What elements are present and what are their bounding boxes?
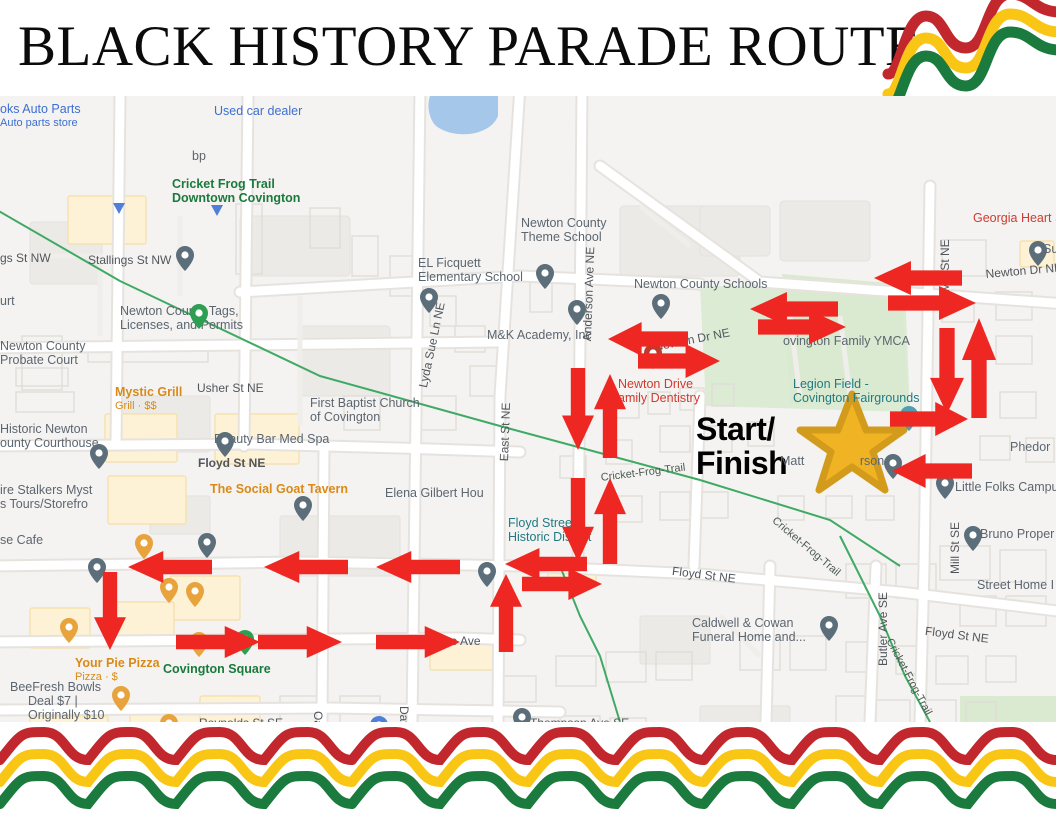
parade-route-map[interactable]: Start/ Finish oks Auto PartsAuto parts s… (0, 96, 1056, 722)
page-title: BLACK HISTORY PARADE ROUTE (18, 14, 920, 80)
tricolor-wave-icon (882, 0, 1056, 96)
start-finish-line-1: Start/ (696, 412, 787, 446)
parade-route-flyer: BLACK HISTORY PARADE ROUTE (0, 0, 1056, 816)
flyer-header: BLACK HISTORY PARADE ROUTE (0, 0, 1056, 96)
start-finish-line-2: Finish (696, 446, 787, 480)
start-finish-label: Start/ Finish (696, 412, 787, 480)
tricolor-wave-border (0, 722, 1056, 816)
wave-border-graphic (0, 722, 1056, 816)
map-base-graphics (0, 96, 1056, 722)
